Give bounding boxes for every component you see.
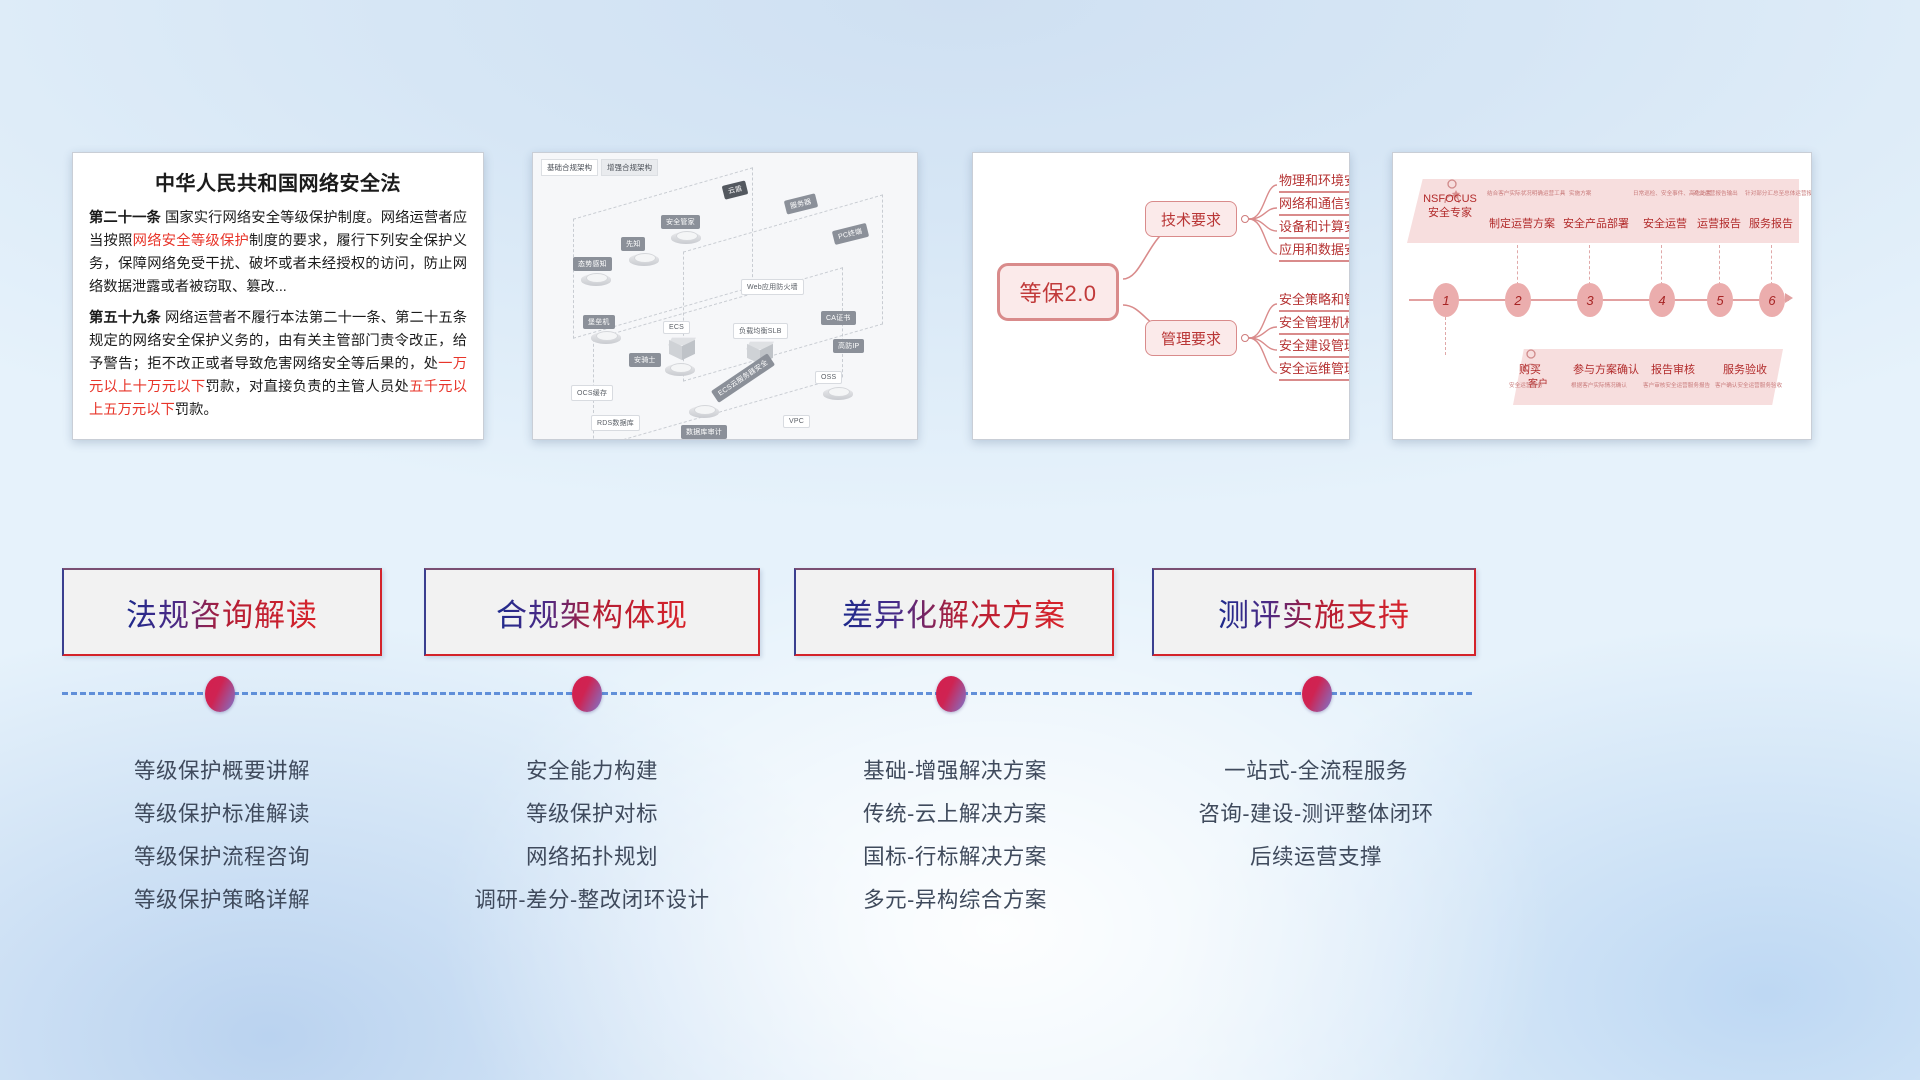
node-icon-ecs (667, 335, 697, 361)
step-4-connector (1661, 245, 1662, 285)
mindmap-leaf-app-data: 应用和数据安全 (1279, 242, 1350, 262)
card-law-document[interactable]: 中华人民共和国网络安全法 第二十一条 国家实行网络安全等级保护制度。网络运营者应… (72, 152, 484, 440)
step-b2-label: 参与方案确认 (1573, 361, 1639, 377)
step-b1-sub: 安全运营服务 (1509, 381, 1543, 389)
timeline-marker-2[interactable] (572, 676, 602, 712)
step-b1-label: 购买 (1519, 361, 1541, 377)
node-icon-sa (581, 269, 611, 288)
card-architecture-diagram[interactable]: 基础合规架构 增强合规架构 云盾 安全管家 先知 态势感知 堡垒机 ECS 安骑… (532, 152, 918, 440)
node-slb: 负载均衡SLB (733, 323, 788, 339)
timeline-dashed-line (62, 692, 1472, 695)
step-5-node[interactable]: 5 (1707, 283, 1733, 317)
node-icon-xianzhi (629, 249, 659, 268)
node-icon-butler (671, 227, 701, 246)
card-mindmap[interactable]: 等保2.0 技术要求 物理和环境安全 网络和通信安全 设备和计算安全 应用和数据… (972, 152, 1350, 440)
mindmap-leaf-policy-system: 安全策略和管理制度 (1279, 292, 1350, 312)
section-button-1[interactable]: 法规咨询解读 (62, 568, 382, 656)
slide-canvas: 中华人民共和国网络安全法 第二十一条 国家实行网络安全等级保护制度。网络运营者应… (0, 0, 1920, 1080)
step-b6-label: 服务验收 (1723, 361, 1767, 377)
step-4-node[interactable]: 4 (1649, 283, 1675, 317)
timeline-canvas: NSFOCUS 安全专家 客户 结合客户实际状况明确运营工具 制定运营方案 2 … (1393, 153, 1811, 439)
timeline-arrow-icon (1785, 293, 1793, 303)
step-2-connector (1517, 245, 1518, 285)
list-item: 咨询-建设-测评整体闭环 (1148, 793, 1484, 836)
step-2-label: 制定运营方案 (1489, 215, 1555, 231)
list-item: 等级保护对标 (410, 793, 774, 836)
node-ca-cert: CA证书 (821, 311, 856, 325)
node-icon-bastion (591, 327, 621, 346)
mindmap-knob-management[interactable] (1241, 334, 1249, 342)
section-button-2[interactable]: 合规架构体现 (424, 568, 760, 656)
list-item: 调研-差分-整改闭环设计 (410, 879, 774, 922)
list-item: 国标-行标解决方案 (790, 836, 1120, 879)
section-title-1: 法规咨询解读 (126, 590, 318, 635)
list-item: 等级保护策略详解 (62, 879, 382, 922)
step-3-node[interactable]: 3 (1577, 283, 1603, 317)
step-3-connector (1589, 245, 1590, 285)
list-item: 网络拓扑规划 (410, 836, 774, 879)
mindmap-branch-management[interactable]: 管理要求 (1145, 320, 1237, 356)
section-title-3: 差异化解决方案 (842, 590, 1066, 635)
list-item: 多元-异构综合方案 (790, 879, 1120, 922)
list-item: 后续运营支撑 (1148, 836, 1484, 879)
section-title-2: 合规架构体现 (496, 590, 688, 635)
step-4-label: 安全运营 (1643, 215, 1687, 231)
mindmap-leaf-org-personnel: 安全管理机构和人员 (1279, 315, 1350, 335)
mindmap-knob-technical[interactable] (1241, 215, 1249, 223)
mindmap-leaf-physical-env: 物理和环境安全 (1279, 173, 1350, 193)
list-item: 安全能力构建 (410, 750, 774, 793)
mindmap-branch-technical[interactable]: 技术要求 (1145, 201, 1237, 237)
timeline-marker-3[interactable] (936, 676, 966, 712)
node-ecs: ECS (663, 321, 690, 334)
article-21-number: 第二十一条 (89, 210, 161, 226)
node-db-audit: 数据库审计 (681, 425, 727, 439)
step-5-label: 运营报告 (1697, 215, 1741, 231)
step-b5-sub: 客户审核安全运营服务报告 (1643, 381, 1710, 389)
step-6-connector (1771, 245, 1772, 285)
timeline-marker-4[interactable] (1302, 676, 1332, 712)
list-item: 基础-增强解决方案 (790, 750, 1120, 793)
node-waf: Web应用防火墙 (741, 279, 804, 295)
law-article-59: 第五十九条 网络运营者不履行本法第二十一条、第二十五条规定的网络安全保护义务的，… (89, 307, 467, 423)
feature-list-3: 基础-增强解决方案 传统-云上解决方案 国标-行标解决方案 多元-异构综合方案 (790, 750, 1120, 922)
mindmap-root[interactable]: 等保2.0 (997, 263, 1119, 321)
section-button-3[interactable]: 差异化解决方案 (794, 568, 1114, 656)
feature-list-2: 安全能力构建 等级保护对标 网络拓扑规划 调研-差分-整改闭环设计 (410, 750, 774, 922)
article-59-text-mid: 罚款，对直接负责的主管人员处 (205, 379, 409, 395)
article-21-highlight: 网络安全等级保护 (133, 233, 249, 249)
tab-basic-architecture[interactable]: 基础合规架构 (541, 159, 598, 176)
step-3-sub: 实施方案 (1569, 189, 1591, 197)
node-rds-db: RDS数据库 (591, 415, 640, 431)
step-b5-label: 报告审核 (1651, 361, 1695, 377)
feature-list-1: 等级保护概要讲解 等级保护标准解读 等级保护流程咨询 等级保护策略详解 (62, 750, 382, 922)
step-2-sub: 结合客户实际状况明确运营工具 (1487, 189, 1565, 197)
step-6-node[interactable]: 6 (1759, 283, 1785, 317)
list-item: 等级保护概要讲解 (62, 750, 382, 793)
feature-list-4: 一站式-全流程服务 咨询-建设-测评整体闭环 后续运营支撑 (1148, 750, 1484, 879)
article-59-text-end: 罚款。 (175, 402, 218, 418)
step-b6-sub: 客户确认安全运营服务验收 (1715, 381, 1782, 389)
section-button-4[interactable]: 测评实施支持 (1152, 568, 1476, 656)
step-5-sub: 对公运营报告输出 (1693, 189, 1738, 197)
step-5-connector (1719, 245, 1720, 285)
mindmap-leaf-device-compute: 设备和计算安全 (1279, 219, 1350, 239)
node-icon-rds (689, 401, 719, 420)
step-1-connector (1445, 317, 1446, 355)
list-item: 一站式-全流程服务 (1148, 750, 1484, 793)
node-vpc: VPC (783, 415, 810, 428)
step-2-node[interactable]: 2 (1505, 283, 1531, 317)
node-anqishi: 安骑士 (629, 353, 661, 367)
nsfocus-brand-line1: NSFOCUS (1419, 193, 1481, 207)
mindmap-canvas: 等保2.0 技术要求 物理和环境安全 网络和通信安全 设备和计算安全 应用和数据… (973, 153, 1349, 439)
nsfocus-brand: NSFOCUS 安全专家 (1419, 193, 1481, 221)
node-ocs-cache: OCS缓存 (571, 385, 613, 401)
node-server: 服务器 (784, 193, 818, 214)
step-6-sub: 针对部分汇总至总体运营报告 (1745, 189, 1812, 197)
law-body: 中华人民共和国网络安全法 第二十一条 国家实行网络安全等级保护制度。网络运营者应… (73, 153, 483, 422)
article-59-number: 第五十九条 (89, 310, 161, 326)
timeline-marker-1[interactable] (205, 676, 235, 712)
section-title-4: 测评实施支持 (1218, 590, 1410, 635)
architecture-tabs[interactable]: 基础合规架构 增强合规架构 (541, 159, 658, 176)
list-item: 传统-云上解决方案 (790, 793, 1120, 836)
node-anti-ddos-ip: 高防IP (833, 339, 864, 353)
law-title: 中华人民共和国网络安全法 (89, 167, 467, 196)
mindmap-leaf-network-comm: 网络和通信安全 (1279, 196, 1350, 216)
card-service-timeline[interactable]: NSFOCUS 安全专家 客户 结合客户实际状况明确运营工具 制定运营方案 2 … (1392, 152, 1812, 440)
list-item: 等级保护标准解读 (62, 793, 382, 836)
law-article-21: 第二十一条 国家实行网络安全等级保护制度。网络运营者应当按照网络安全等级保护制度… (89, 207, 467, 300)
mindmap-leaf-construction-mgmt: 安全建设管理 (1279, 338, 1350, 358)
list-item: 等级保护流程咨询 (62, 836, 382, 879)
step-3-label: 安全产品部署 (1563, 215, 1629, 231)
node-icon-anqishi (665, 359, 695, 378)
step-1-node[interactable]: 1 (1433, 283, 1459, 317)
mindmap-leaf-ops-mgmt: 安全运维管理 (1279, 361, 1350, 381)
nsfocus-brand-line2: 安全专家 (1419, 207, 1481, 221)
architecture-canvas: 基础合规架构 增强合规架构 云盾 安全管家 先知 态势感知 堡垒机 ECS 安骑… (533, 153, 917, 439)
step-b2-sub: 根据客户实际情况确认 (1571, 381, 1627, 389)
node-icon-oss (823, 383, 853, 402)
tab-enhanced-architecture[interactable]: 增强合规架构 (601, 159, 658, 176)
step-6-label: 服务报告 (1749, 215, 1793, 231)
